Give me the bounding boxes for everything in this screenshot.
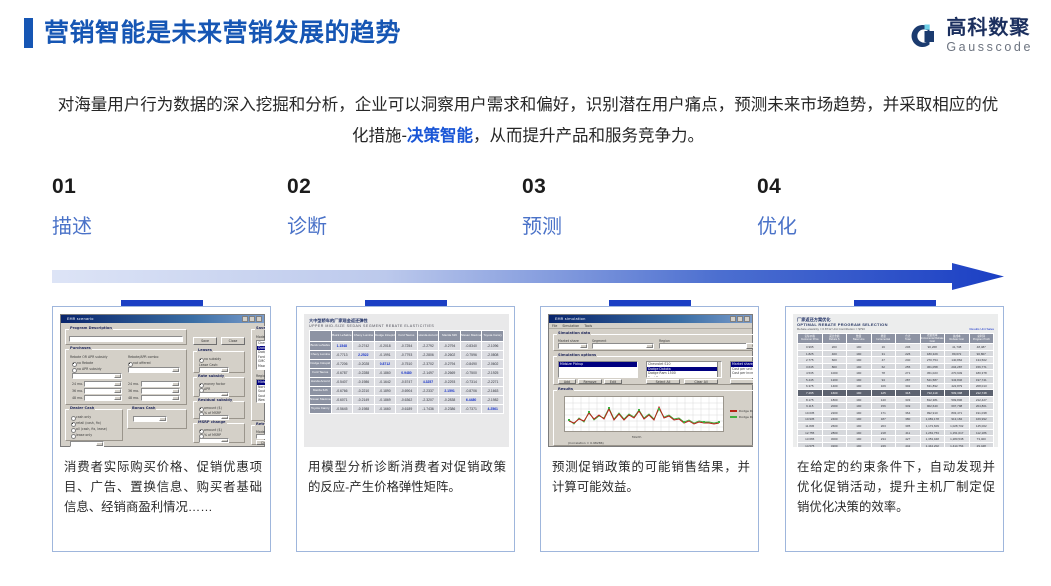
radio-residual-amount[interactable]: amount ($) [199, 406, 222, 410]
cell: 171 [871, 410, 896, 417]
step-04: 04 优化 [757, 176, 957, 237]
brand-logo: 高科数聚 Gausscode [905, 18, 1033, 54]
term-label: 24 mo. [128, 382, 139, 386]
cell: 271 [896, 370, 921, 377]
screenshot-emr-scenario: EMR scenario Program Description Purchas… [60, 314, 265, 447]
cell: 156,771 [969, 363, 994, 370]
row-header: Toyota Camry [310, 405, 332, 414]
cell: 451,023 [920, 370, 945, 377]
remove-button[interactable]: Remove [578, 379, 602, 384]
col-header: 增量Incremental [871, 333, 896, 344]
group-residual-subsidy: Residual subsidy amount ($) % of MSRP [193, 401, 245, 419]
chart-footnote: (Correlation = 0.98286) [568, 441, 604, 445]
intro-highlight: 决策智能 [407, 127, 473, 145]
col-header: 实际价格Customer Price [798, 333, 823, 344]
list-item[interactable]: Ford Ranger [647, 376, 721, 378]
cell: -0.6362 [396, 396, 418, 405]
table-row: Chevy Lumina-0.77132.2522-0.1991-0.7793-… [310, 351, 504, 360]
table-row: 4.535100019078271451,023270,949180,378 [798, 370, 994, 377]
step-label: 预测 [522, 217, 722, 237]
cell: 4.2561 [482, 405, 504, 414]
cell: 180,378 [969, 370, 994, 377]
cell: 41,738 [945, 344, 970, 351]
radio-not-offered[interactable]: not offered [128, 361, 151, 365]
cell: 2200 [822, 410, 847, 417]
simulation-chart [564, 396, 724, 432]
market-share-combo[interactable] [558, 343, 588, 349]
cell: -0.2742 [353, 342, 375, 351]
legend-label: Dodge Dakota actual [739, 415, 753, 419]
window-title: EMR scenario [62, 317, 94, 321]
cell: 73,400 [969, 436, 994, 443]
chart-xlabel: Month [632, 435, 641, 439]
rate-combo[interactable] [199, 392, 229, 397]
cell: -2.1096 [482, 342, 504, 351]
cell: 62 [871, 363, 896, 370]
cell: 190 [847, 416, 872, 423]
cell: 255 [896, 363, 921, 370]
cell: -0.7371 [460, 405, 482, 414]
cell: 270,949 [945, 370, 970, 377]
col-header: Dodge Intrepid [374, 331, 396, 342]
card-caption: 消费者实际购买价格、促销优惠项目、广告、置换信息、购买者基础信息、经销商盈利情况… [64, 457, 262, 517]
cell: -0.7314 [460, 378, 482, 387]
col-header: Chevy Lumina [353, 331, 375, 342]
cell: 190 [847, 429, 872, 436]
title-text: 营销智能是未来营销发展的趋势 [44, 21, 401, 46]
radio-lease-only[interactable]: lease only [71, 433, 92, 437]
cell: 2800 [822, 429, 847, 436]
term-rate-3[interactable] [141, 395, 180, 401]
list-item[interactable]: Chevrolet SSR [257, 341, 265, 346]
cell: -0.2669 [439, 369, 461, 378]
cell: 226 [896, 350, 921, 357]
list-item[interactable]: Market share/Units to be evaluated [731, 362, 753, 367]
group-msrp-change: MSRP change amount ($) % of MSRP [193, 423, 245, 443]
cell: -2.1925 [482, 369, 504, 378]
cell: 803,471 [945, 410, 970, 417]
cell: 343,846 [945, 377, 970, 384]
screenshot-elasticity-matrix: 大中型轿车的厂家现金返还弹性 UPPER MID-SIZE SEDAN SEGM… [304, 314, 509, 447]
cell: 140,862 [945, 357, 970, 364]
group-legend: Leases [197, 348, 213, 352]
card-caption: 用模型分析诊断消费者对促销政策的反应-产生价格弹性矩阵。 [308, 457, 506, 497]
cell: 270,754 [920, 357, 945, 364]
table-row: Buick LeSabre1.1548-0.2742-0.2018-0.7254… [310, 342, 504, 351]
group-simulation-data: Simulation data Market share Segment Reg… [553, 334, 753, 351]
cell: 1,151,617 [945, 429, 970, 436]
card-describe[interactable]: EMR scenario Program Description Purchas… [52, 306, 271, 552]
table-row: 6.3751400190109302631,892422,879208,013 [798, 383, 994, 390]
cell: 29,448 [969, 443, 994, 447]
group-retrieve-incentives: Retrieve incentives Model: Region: Clear… [251, 425, 265, 445]
cell: 48,487 [969, 344, 994, 351]
term-label: 36 mo. [72, 389, 83, 393]
step-number: 03 [522, 176, 722, 197]
intro-part-2: ，从而提升产品和服务竞争力。 [473, 127, 704, 145]
cell: 4.535 [798, 370, 823, 377]
table-row: 11.84526001902033951,173,6091,028,702145… [798, 423, 994, 430]
radio-msrp-amount[interactable]: amount ($) [199, 428, 222, 432]
cell: 800 [822, 363, 847, 370]
cell: -0.1991 [374, 351, 396, 360]
row-header: Honda Accord [310, 378, 332, 387]
cell: 12.755 [798, 429, 823, 436]
radio-all[interactable]: all (cash, fix, lease) [71, 427, 107, 431]
radio-money-factor[interactable]: money factor [199, 382, 225, 386]
cell: 6.375 [798, 383, 823, 390]
cell: 2400 [822, 416, 847, 423]
cell: -0.1890 [374, 387, 396, 396]
cell: 380 [896, 416, 921, 423]
cell: -0.2149 [353, 396, 375, 405]
row-header: Buick LeSabre [310, 342, 332, 351]
cell: 1,173,609 [920, 423, 945, 430]
cell: -0.5407 [331, 378, 353, 387]
table-row: 1.82540019031226180,32989,67290,807 [798, 350, 994, 357]
group-legend: Results [557, 387, 574, 391]
table-row: 2.77560019047240270,754140,862134,502 [798, 357, 994, 364]
regions-label: Region(s) [256, 374, 265, 378]
table-header-row: Buick LeSabre Chevy Lumina Dodge Intrepi… [310, 331, 504, 342]
cell: 190 [847, 383, 872, 390]
cell: 190 [847, 396, 872, 403]
col-header: 总利润Program Profit [969, 333, 994, 344]
window-controls[interactable] [242, 316, 263, 322]
cell: -0.8706 [460, 387, 482, 396]
cell: 190 [847, 350, 872, 357]
cell: 206 [896, 344, 921, 351]
term-value-1[interactable] [84, 381, 122, 387]
cell: 109 [871, 383, 896, 390]
cell: 1,444,202 [920, 443, 945, 447]
cell: -1.7436 [417, 405, 439, 414]
menu-simulation[interactable]: Simulation [562, 324, 579, 328]
cell: 812,381 [920, 396, 945, 403]
cell: 112,186 [969, 429, 994, 436]
group-results: Results [553, 390, 753, 446]
group-program-description: Program Description [65, 329, 187, 345]
clear-button[interactable]: Clear [256, 440, 265, 445]
card-predict[interactable]: EMR simulation File Simulation Tools Sim… [540, 306, 759, 552]
sub-label-combo: Rebate/APR combo [128, 355, 158, 359]
cell: 722,119 [920, 390, 945, 397]
col-header: Toyota Camry [482, 331, 504, 342]
cell: 240 [896, 357, 921, 364]
cell: -2.2271 [482, 378, 504, 387]
cell: -0.5747 [396, 378, 418, 387]
group-legend: Save incentives [255, 326, 265, 330]
cell: 1.825 [798, 350, 823, 357]
group-simulation-options: Simulation options Midsize Pickup Add Re… [553, 356, 753, 385]
cell: -0.1988 [353, 405, 375, 414]
list-item[interactable]: Midsize Pickup [559, 362, 637, 367]
lease-cash-combo[interactable] [199, 367, 229, 373]
group-purchases: Purchases Rebate OR APR subsidy Rebate/A… [65, 349, 187, 405]
save-button[interactable]: Save [193, 337, 217, 345]
group-legend: Rate subsidy [197, 374, 225, 378]
cell: 287 [896, 377, 921, 384]
cell: 190 [847, 363, 872, 370]
cell: 395 [896, 423, 921, 430]
cell: 89,672 [945, 350, 970, 357]
cell: -2.1663 [482, 387, 504, 396]
table-row: 10.0352200190171364992,910803,471191,038 [798, 410, 994, 417]
cell: 169,992 [969, 416, 994, 423]
segment-combo[interactable] [592, 343, 654, 349]
step-01: 01 描述 [52, 176, 252, 237]
cell: -0.7254 [396, 342, 418, 351]
graph-button[interactable]: Graph [730, 379, 753, 384]
menu-file[interactable]: File [552, 324, 557, 328]
cell: 156 [871, 403, 896, 410]
page-title: 营销智能是未来营销发展的趋势 [24, 18, 401, 48]
cell: 302 [896, 383, 921, 390]
cell: 333 [896, 396, 921, 403]
cell: 10.035 [798, 410, 823, 417]
legend-est: Dodge Dakota est. [730, 409, 753, 413]
cell: -2.1497 [417, 369, 439, 378]
dealer-cash-combo[interactable] [70, 441, 104, 447]
cell: 361,058 [920, 363, 945, 370]
cell: -0.5645 [331, 405, 353, 414]
cell: 509,398 [945, 390, 970, 397]
group-leases: Leases no subsidy Lease Cash: [193, 351, 245, 373]
col-header: 合计Total [896, 333, 921, 344]
table-row: Ford Taurus-0.6787-0.2288-0.18600.9480-2… [310, 369, 504, 378]
cell: -2.0808 [482, 351, 504, 360]
cell: -0.2018 [374, 342, 396, 351]
step-label: 优化 [757, 217, 957, 237]
cell: -2.3702 [417, 360, 439, 369]
title-accent-bar [24, 18, 33, 48]
row-header: Mazda 626 [310, 387, 332, 396]
regions-listbox[interactable]: Midwest Northeast Southeast Southwest We… [256, 379, 265, 403]
col-header: Mazda 626 [439, 331, 461, 342]
cell: 190 [847, 370, 872, 377]
radio-no-apr[interactable]: no APR subsidy [72, 367, 101, 371]
radio-retail[interactable]: retail (cash, fix) [71, 421, 101, 425]
retrieve-model-combo[interactable] [256, 434, 265, 439]
scrollbar[interactable] [717, 362, 721, 377]
col-header: 增量成本Incremental Rebate Cost [920, 333, 945, 344]
cell: 631,892 [920, 383, 945, 390]
cell: -0.6189 [396, 405, 418, 414]
purchase-combo-2[interactable] [128, 367, 180, 373]
screenshot-optimal-rebate: 厂家返还方案优化 OPTIMAL REBATE PROGRAM SELECTIO… [793, 314, 998, 447]
cell: 3200 [822, 443, 847, 447]
radio-msrp-pct[interactable]: % of MSRP [199, 433, 221, 437]
select-all-button[interactable]: Select All [646, 379, 680, 384]
window-controls[interactable] [730, 316, 751, 322]
cell: 1200 [822, 377, 847, 384]
table-row: 8.1751800190140333812,381599,806212,427 [798, 396, 994, 403]
group-bonus-cash: Bonus Cash [127, 409, 187, 429]
cell: 3.645 [798, 363, 823, 370]
table-row: Mazda 626-0.6766-0.2210-0.1890-0.6904-2.… [310, 387, 504, 396]
col-header: Ford Taurus [396, 331, 418, 342]
cell: -0.8340 [460, 342, 482, 351]
purchase-combo-1[interactable] [72, 373, 122, 379]
group-legend: Residual subsidy [197, 398, 233, 402]
cell: 218 [871, 429, 896, 436]
group-save-incentives: Save incentives Model(s) Chevrolet SSR D… [251, 329, 265, 421]
card-optimize[interactable]: 厂家返还方案优化 OPTIMAL REBATE PROGRAM SELECTIO… [785, 306, 1004, 552]
cell: 422,879 [945, 383, 970, 390]
step-label: 描述 [52, 217, 252, 237]
table-row: Toyota Camry-0.5645-0.1988-0.1660-0.6189… [310, 405, 504, 414]
cell: 197,741 [969, 377, 994, 384]
cell: 200 [822, 344, 847, 351]
cell: 1,414,754 [945, 443, 970, 447]
list-item[interactable]: West [257, 398, 265, 403]
cell: 145,002 [969, 423, 994, 430]
group-rate-subsidy: Rate subsidy money factor APR [193, 377, 245, 397]
step-number: 02 [287, 176, 487, 197]
group-dealer-cash: Dealer Cash cash only retail (cash, fix)… [65, 409, 123, 441]
term-value-2[interactable] [84, 388, 122, 394]
cell: 1000 [822, 370, 847, 377]
row-header: Chevy Lumina [310, 351, 332, 360]
cell: 6.4480 [460, 396, 482, 405]
cell: -0.7793 [396, 351, 418, 360]
slide-header: 营销智能是未来营销发展的趋势 高科数聚 Gausscode [0, 0, 1051, 72]
cell: 11.845 [798, 423, 823, 430]
row-header: Dodge Intrepid [310, 360, 332, 369]
cell: 1.1548 [331, 342, 353, 351]
cell: 90,807 [969, 350, 994, 357]
elasticity-table: Buick LeSabre Chevy Lumina Dodge Intrepi… [309, 330, 504, 414]
cell: 10.935 [798, 416, 823, 423]
cell: 427 [896, 436, 921, 443]
msrp-combo[interactable] [199, 438, 229, 443]
cell: 190 [847, 390, 872, 397]
optimal-rebate-table: 实际价格Customer Price 返还金额Rebate $ 数量Base L… [797, 333, 994, 448]
cell: 0.995 [798, 344, 823, 351]
cell: -0.7500 [460, 369, 482, 378]
cell: 697,798 [945, 403, 970, 410]
cell: -0.2602 [439, 351, 461, 360]
radio-no-rebate[interactable]: no Rebate [72, 361, 93, 365]
list-item[interactable]: Cost per incremental unit [731, 371, 753, 376]
cell: 541,587 [920, 377, 945, 384]
sub-label-rebate-apr: Rebate OR APR subsidy [70, 355, 107, 359]
cell: -0.1869 [374, 396, 396, 405]
region-combo[interactable] [659, 343, 753, 349]
cell: -2.3207 [417, 396, 439, 405]
radio-no-subsidy[interactable]: no subsidy [199, 357, 221, 361]
table-row: 13.66530001902344271,353,9481,280,53873,… [798, 436, 994, 443]
cell: -0.1642 [374, 378, 396, 387]
cell: 208,013 [969, 383, 994, 390]
residual-combo[interactable] [199, 415, 229, 420]
group-legend: Purchases [69, 346, 92, 350]
cell: -0.7596 [460, 351, 482, 360]
group-legend: Dealer Cash [69, 406, 95, 410]
step-number: 01 [52, 176, 252, 197]
cell: 902,640 [920, 403, 945, 410]
term-label: 48 mo. [128, 396, 139, 400]
cell: -0.1660 [374, 405, 396, 414]
radio-cash-only[interactable]: cash only [71, 415, 91, 419]
cell: 31 [871, 350, 896, 357]
cell: -0.2293 [439, 378, 461, 387]
menu-tools[interactable]: Tools [584, 324, 592, 328]
matrix-title-en: UPPER MID-SIZE SEDAN SEGMENT REBATE ELAS… [309, 324, 504, 329]
table-row: 3.64580019062255361,058204,287156,771 [798, 363, 994, 370]
table-row: 14.57532001902494421,444,2021,414,75429,… [798, 443, 994, 447]
logo-name-en: Gausscode [946, 41, 1033, 54]
cell: 94 [871, 377, 896, 384]
cell: 1,263,753 [920, 429, 945, 436]
cell: 190 [847, 377, 872, 384]
cell: 190 [847, 357, 872, 364]
clear-all-button[interactable]: Clear All [684, 379, 718, 384]
program-description-input[interactable] [69, 336, 183, 342]
cell: 2.775 [798, 357, 823, 364]
table-row: 10.93524001901873801,083,178913,184169,9… [798, 416, 994, 423]
term-value-3[interactable] [84, 395, 122, 401]
close-button[interactable]: Close [221, 337, 245, 345]
cell: 140 [871, 396, 896, 403]
cell: 913,184 [945, 416, 970, 423]
cell: 2000 [822, 403, 847, 410]
card-diagnose[interactable]: 大中型轿车的厂家现金返还弹性 UPPER MID-SIZE SEDAN SEGM… [296, 306, 515, 552]
start-over-button[interactable]: Start Over [746, 343, 753, 349]
models-listbox[interactable]: Chevrolet S10 Dodge Dakota Dodge Ram 150… [646, 361, 722, 378]
logo-name-cn: 高科数聚 [946, 18, 1033, 38]
list-item[interactable]: Mazda B-Series [257, 364, 265, 369]
corner-cell [310, 331, 332, 342]
list-item[interactable]: Midwest [257, 380, 265, 385]
radio-apr[interactable]: APR [199, 387, 210, 391]
cell: -0.6904 [396, 387, 418, 396]
term-rate-1[interactable] [141, 381, 180, 387]
cell: -0.6766 [331, 387, 353, 396]
add-button[interactable]: Add [558, 379, 576, 384]
cell: -0.6071 [331, 396, 353, 405]
cell: -0.2794 [439, 342, 461, 351]
legend-label: Dodge Dakota est. [739, 409, 753, 413]
cell: 992,910 [920, 410, 945, 417]
table-row: Nissan Maxima-0.6071-0.2149-0.1869-0.636… [310, 396, 504, 405]
row-header: Nissan Maxima [310, 396, 332, 405]
group-legend: MSRP change [197, 420, 227, 424]
term-rate-2[interactable] [141, 388, 180, 394]
table-row: 7.2951600190125318722,119509,398212,748 [798, 390, 994, 397]
cell: -0.7713 [331, 351, 353, 360]
table-header-row: 实际价格Customer Price 返还金额Rebate $ 数量Base L… [798, 333, 994, 344]
cell: 78 [871, 370, 896, 377]
term-label: 36 mo. [128, 389, 139, 393]
term-label: 24 mo. [72, 382, 83, 386]
output-listbox[interactable]: Market share/Units to be evaluated Cost … [730, 361, 753, 378]
col-header: Buick LeSabre [331, 331, 353, 342]
cell: 2.2522 [353, 351, 375, 360]
cell: 204,801 [969, 403, 994, 410]
cell: -0.6787 [331, 369, 353, 378]
scenario-listbox[interactable]: Midsize Pickup [558, 361, 638, 378]
cell: 1800 [822, 396, 847, 403]
col-header: Nissan Maxima [460, 331, 482, 342]
cell: 187 [871, 416, 896, 423]
cell: 1,353,948 [920, 436, 945, 443]
bonus-cash-combo[interactable] [133, 416, 167, 422]
edit-button[interactable]: Edit [604, 379, 622, 384]
cell: 1,280,538 [945, 436, 970, 443]
optimal-meta: Rebate elasticity = 0.8712 Unit Contribu… [797, 327, 994, 332]
models-listbox[interactable]: Chevrolet SSR Dodge Dakota Dodge Ram 150… [256, 340, 265, 370]
